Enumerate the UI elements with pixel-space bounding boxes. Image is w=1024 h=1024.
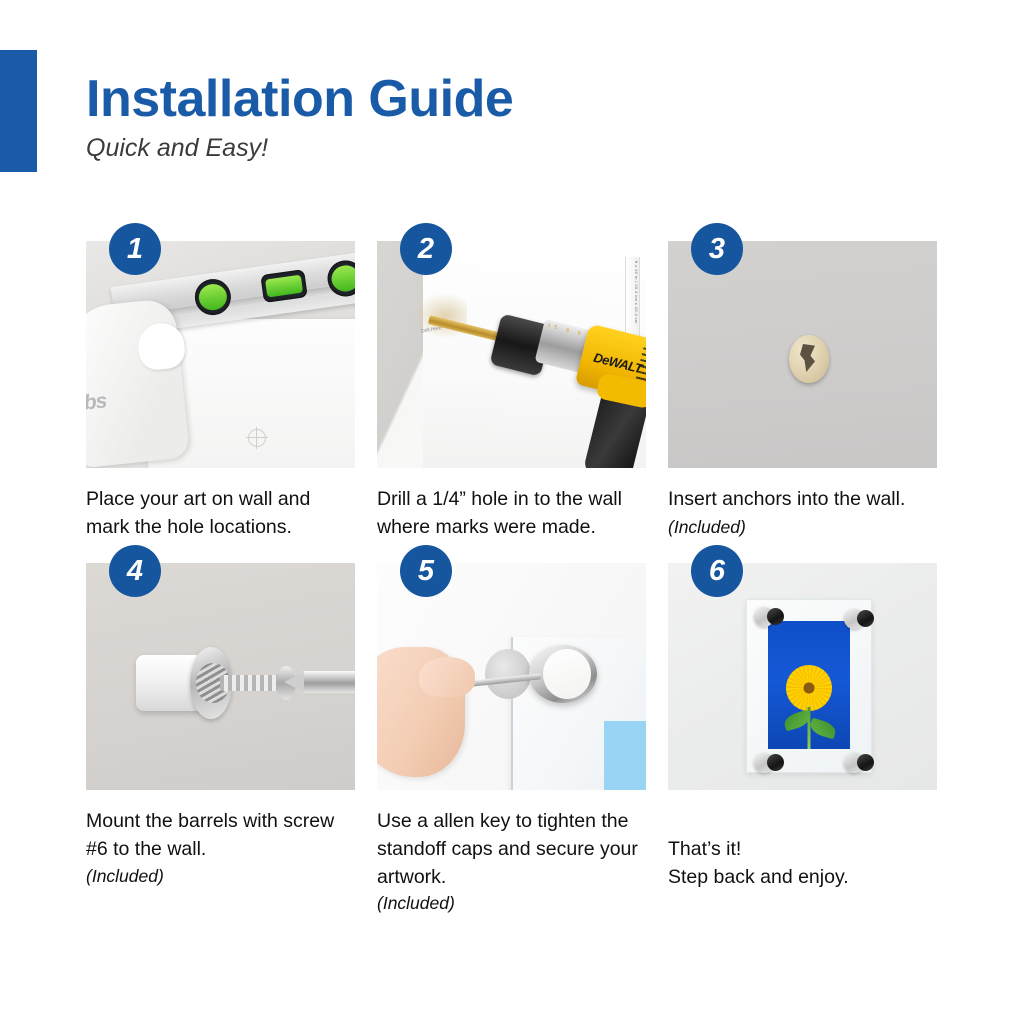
step-image-wrap-5: 5 bbox=[377, 563, 646, 790]
standoff-cap bbox=[857, 610, 874, 627]
hand-finger bbox=[419, 657, 475, 697]
standoff-cap bbox=[767, 608, 784, 625]
step-caption-note-5: (Included) bbox=[377, 891, 646, 916]
standoff-top-left bbox=[754, 607, 784, 627]
step-card-2: 8 x 10 in / 20.3 cm x 25.4 cm Drill Here… bbox=[377, 241, 646, 541]
page-title: Installation Guide bbox=[86, 72, 513, 127]
sunflower-petals bbox=[786, 665, 832, 711]
step-badge-3: 3 bbox=[691, 223, 743, 275]
step-card-4: 4 Mount the barrels with screw #6 to the… bbox=[86, 563, 355, 916]
step-caption-4: Mount the barrels with screw #6 to the w… bbox=[86, 808, 355, 888]
step-image-2: 8 x 10 in / 20.3 cm x 25.4 cm Drill Here… bbox=[377, 241, 646, 468]
step-image-4 bbox=[86, 563, 355, 790]
step-image-3 bbox=[668, 241, 937, 468]
screwdriver-icon bbox=[302, 671, 355, 693]
step-image-wrap-2: 8 x 10 in / 20.3 cm x 25.4 cm Drill Here… bbox=[377, 241, 646, 468]
sunflower-leaf-right bbox=[808, 718, 837, 740]
step-image-1: bs bbox=[86, 241, 355, 468]
hand-icon bbox=[377, 647, 465, 777]
glove-logo: bs bbox=[86, 389, 108, 415]
page-subtitle: Quick and Easy! bbox=[86, 135, 513, 163]
step-card-6: 6 That’s it! Step back and enjoy. bbox=[668, 563, 937, 916]
sunflower-icon bbox=[786, 665, 832, 711]
screw-shaft-icon bbox=[220, 675, 282, 691]
step-caption-text-5: Use a allen key to tighten the standoff … bbox=[377, 810, 638, 887]
step-caption-note-4: (Included) bbox=[86, 864, 355, 889]
drill-brand-label: DeWALT bbox=[592, 350, 644, 377]
step-image-6 bbox=[668, 563, 937, 790]
step-card-3: 3 Insert anchors into the wall. (Include… bbox=[668, 241, 937, 541]
standoff-bottom-left bbox=[754, 753, 784, 773]
hole-mark-icon bbox=[248, 429, 266, 447]
step-image-5 bbox=[377, 563, 646, 790]
step-badge-6: 6 bbox=[691, 545, 743, 597]
step-caption-text-3: Insert anchors into the wall. bbox=[668, 488, 905, 510]
page-header: Installation Guide Quick and Easy! bbox=[86, 72, 513, 162]
sunflower-artwork bbox=[768, 621, 850, 749]
blue-artwork-corner bbox=[604, 721, 646, 790]
installation-guide-page: Installation Guide Quick and Easy! bbox=[0, 0, 1024, 1024]
step-caption-5: Use a allen key to tighten the standoff … bbox=[377, 808, 646, 916]
step-card-1: bs 1 Place your art on wall and mark the… bbox=[86, 241, 355, 541]
step-badge-5: 5 bbox=[400, 545, 452, 597]
step-badge-2: 2 bbox=[400, 223, 452, 275]
step-caption-1: Place your art on wall and mark the hole… bbox=[86, 486, 355, 541]
standoff-top-right bbox=[844, 609, 874, 629]
standoff-bottom-right bbox=[844, 753, 874, 773]
step-card-5: 5 Use a allen key to tighten the standof… bbox=[377, 563, 646, 916]
step-caption-2: Drill a 1/4” hole in to the wall where m… bbox=[377, 486, 646, 541]
wall-anchor-icon bbox=[789, 335, 829, 383]
step-image-wrap-6: 6 bbox=[668, 563, 937, 790]
header-accent-bar bbox=[0, 50, 37, 172]
step-caption-6: That’s it! Step back and enjoy. bbox=[668, 808, 937, 891]
step-badge-4: 4 bbox=[109, 545, 161, 597]
step-image-wrap-1: bs 1 bbox=[86, 241, 355, 468]
standoff-cap bbox=[857, 754, 874, 771]
step-image-wrap-4: 4 bbox=[86, 563, 355, 790]
step-badge-1: 1 bbox=[109, 223, 161, 275]
step-caption-3: Insert anchors into the wall. (Included) bbox=[668, 486, 937, 541]
step-caption-note-3: (Included) bbox=[668, 517, 746, 537]
step-caption-text-6: That’s it! Step back and enjoy. bbox=[668, 838, 849, 888]
step-caption-text-4: Mount the barrels with screw #6 to the w… bbox=[86, 810, 334, 860]
step-image-wrap-3: 3 bbox=[668, 241, 937, 468]
step-caption-text-2: Drill a 1/4” hole in to the wall where m… bbox=[377, 488, 622, 538]
step-caption-text-1: Place your art on wall and mark the hole… bbox=[86, 488, 310, 538]
work-glove-icon: bs bbox=[86, 298, 190, 468]
steps-grid: bs 1 Place your art on wall and mark the… bbox=[86, 241, 939, 916]
standoff-cap bbox=[767, 754, 784, 771]
